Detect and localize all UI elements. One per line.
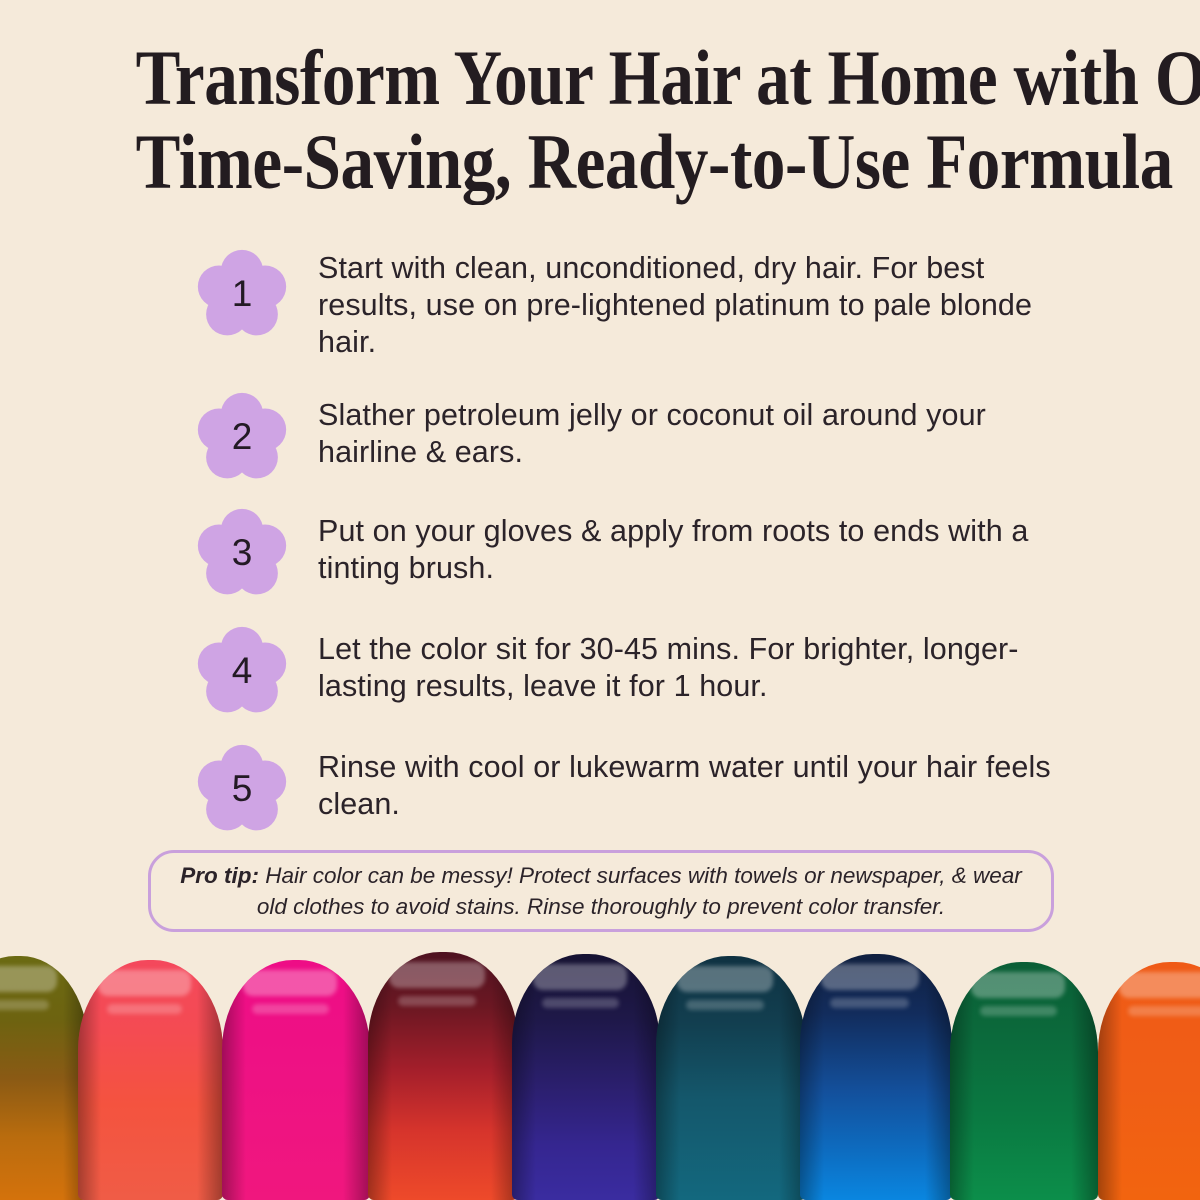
step-item: 2 Slather petroleum jelly or coconut oil… bbox=[196, 391, 1076, 483]
step-text: Start with clean, unconditioned, dry hai… bbox=[288, 248, 1076, 361]
step-number: 5 bbox=[232, 770, 253, 807]
step-number: 1 bbox=[232, 275, 253, 312]
step-text: Put on your gloves & apply from roots to… bbox=[288, 507, 1076, 587]
swatch-blue bbox=[800, 954, 952, 1200]
swatch-magenta-pink bbox=[222, 960, 370, 1200]
pro-tip-text: Pro tip: Hair color can be messy! Protec… bbox=[173, 860, 1029, 922]
step-badge-1: 1 bbox=[196, 248, 288, 340]
step-text: Rinse with cool or lukewarm water until … bbox=[288, 743, 1076, 823]
step-item: 4 Let the color sit for 30-45 mins. For … bbox=[196, 625, 1076, 717]
infographic-page: Transform Your Hair at Home with Our Tim… bbox=[0, 0, 1200, 1200]
step-badge-2: 2 bbox=[196, 391, 288, 483]
step-number: 4 bbox=[232, 652, 253, 689]
step-badge-4: 4 bbox=[196, 625, 288, 717]
title-line-1: Transform Your Hair at Home with Our bbox=[136, 36, 1065, 120]
swatch-olive-amber bbox=[0, 956, 88, 1200]
step-badge-5: 5 bbox=[196, 743, 288, 835]
swatch-violet-navy bbox=[512, 954, 660, 1200]
step-item: 3 Put on your gloves & apply from roots … bbox=[196, 507, 1076, 599]
pro-tip-box: Pro tip: Hair color can be messy! Protec… bbox=[148, 850, 1054, 932]
swatch-green bbox=[950, 962, 1098, 1200]
pro-tip-label: Pro tip: bbox=[180, 863, 259, 888]
title-line-2: Time-Saving, Ready-to-Use Formula bbox=[136, 120, 1065, 204]
page-title: Transform Your Hair at Home with Our Tim… bbox=[60, 36, 1140, 204]
step-badge-3: 3 bbox=[196, 507, 288, 599]
pro-tip-body: Hair color can be messy! Protect surface… bbox=[257, 863, 1022, 919]
step-item: 1 Start with clean, unconditioned, dry h… bbox=[196, 248, 1076, 361]
step-list: 1 Start with clean, unconditioned, dry h… bbox=[196, 248, 1076, 835]
step-text: Slather petroleum jelly or coconut oil a… bbox=[288, 391, 1076, 471]
swatch-orange bbox=[1098, 962, 1200, 1200]
swatch-teal bbox=[656, 956, 806, 1200]
swatch-coral-red bbox=[78, 960, 223, 1200]
step-text: Let the color sit for 30-45 mins. For br… bbox=[288, 625, 1076, 705]
step-number: 3 bbox=[232, 534, 253, 571]
step-item: 5 Rinse with cool or lukewarm water unti… bbox=[196, 743, 1076, 835]
color-swatch-strip bbox=[0, 940, 1200, 1200]
swatch-dark-red bbox=[368, 952, 518, 1200]
step-number: 2 bbox=[232, 418, 253, 455]
